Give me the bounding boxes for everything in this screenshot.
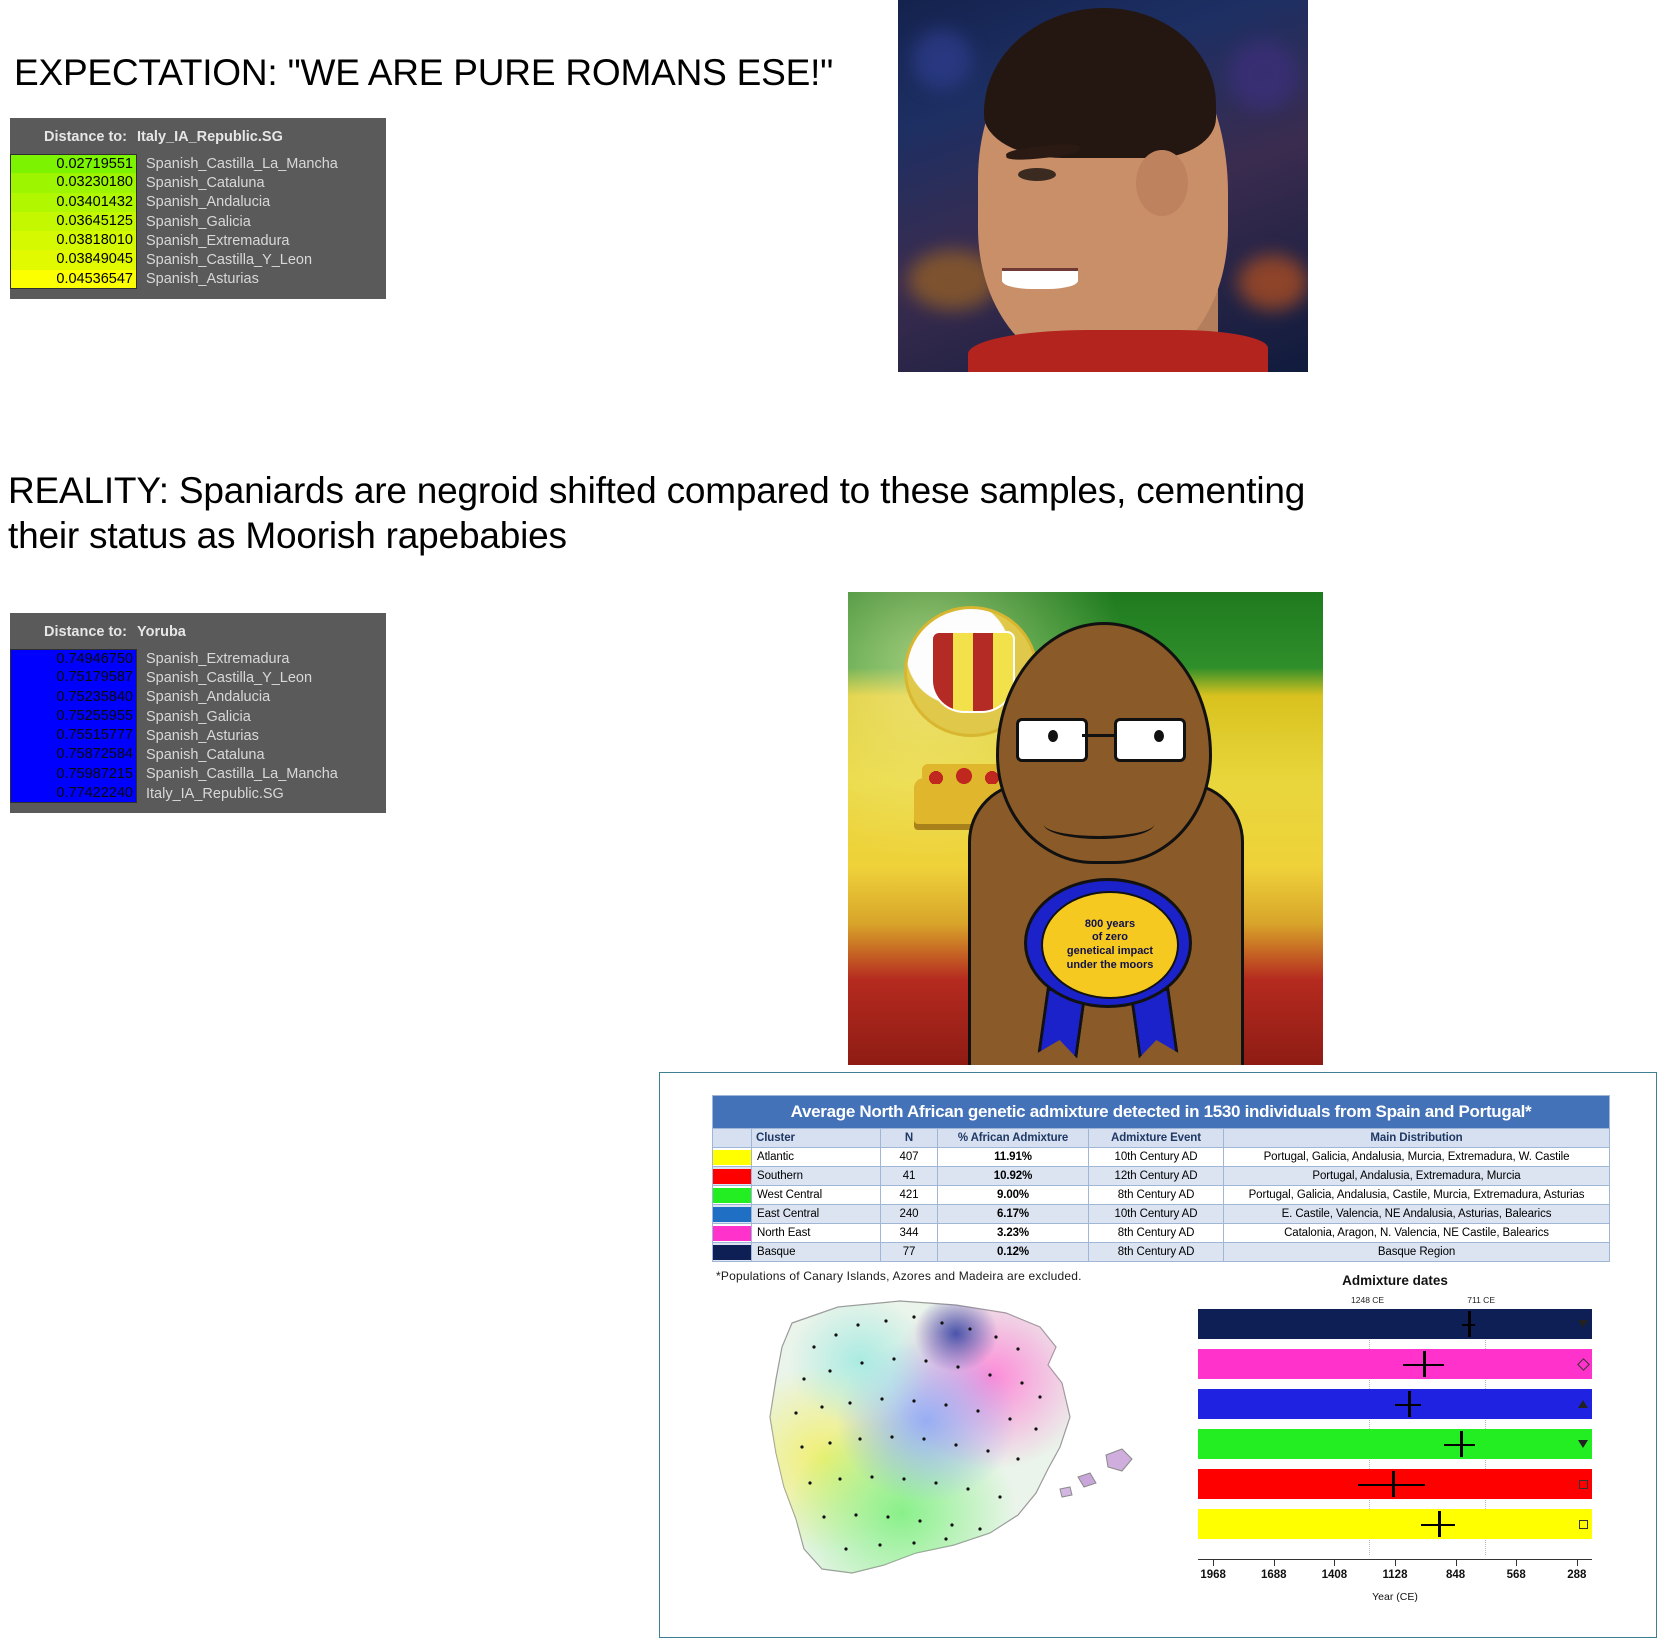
chart-bar-atlantic [1198,1509,1592,1539]
chart-marker-triangle-down [1578,1320,1588,1328]
chart-ci-bar [1358,1484,1425,1486]
distance-row: 0.03401432Spanish_Andalucia [10,193,386,212]
glasses-lens-right [1114,718,1186,762]
distance-row: 0.03645125Spanish_Galicia [10,212,386,231]
admixture-table-body: Atlantic40711.91%10th Century ADPortugal… [713,1148,1610,1262]
distance-to-label: Distance to: [10,129,137,145]
table-row: East Central2406.17%10th Century ADE. Ca… [713,1205,1610,1224]
admixture-dates-chart: Admixture dates 1248 CE 711 CE 196816881… [1170,1273,1620,1619]
distance-population-label: Spanish_Galicia [137,214,251,230]
admixture-col-header: N [881,1129,938,1148]
distance-value: 0.77422240 [10,784,137,803]
cell-event: 12th Century AD [1089,1167,1224,1186]
chart-point-estimate [1392,1471,1395,1497]
distance-panel-yoruba: Distance to: Yoruba 0.74946750Spanish_Ex… [10,613,386,813]
cell-n: 407 [881,1148,938,1167]
distance-population-label: Spanish_Cataluna [137,175,265,191]
chart-tick [1395,1559,1396,1566]
admixture-dates-title: Admixture dates [1170,1273,1620,1288]
chart-bar-west-central [1198,1429,1592,1459]
medal-text: 800 yearsof zerogenetical impactunder th… [1067,918,1154,973]
admixture-table-title: Average North African genetic admixture … [713,1096,1610,1129]
chart-tick [1334,1559,1335,1566]
distance-population-label: Spanish_Andalucia [137,689,270,705]
wojak-mouth [1044,810,1154,839]
distance-value: 0.75872584 [10,745,137,764]
distance-value: 0.75987215 [10,765,137,784]
expectation-headline: EXPECTATION: "WE ARE PURE ROMANS ESE!" [14,50,914,95]
pupil-left [1048,730,1058,742]
distance-row: 0.02719551Spanish_Castilla_La_Mancha [10,154,386,173]
bokeh-light [1238,255,1308,310]
cell-cluster: West Central [752,1186,881,1205]
admixture-table-footnote: *Populations of Canary Islands, Azores a… [716,1269,1082,1283]
table-row: Atlantic40711.91%10th Century ADPortugal… [713,1148,1610,1167]
cell-pct: 9.00% [938,1186,1089,1205]
balearic-islands [1060,1449,1132,1497]
study-figure-panel: Average North African genetic admixture … [659,1072,1657,1638]
chart-marker-triangle-up [1578,1400,1588,1408]
admixture-table-title-row: Average North African genetic admixture … [713,1096,1610,1129]
chart-tick [1274,1559,1275,1566]
cluster-color-swatch [713,1243,752,1262]
chart-point-estimate [1460,1431,1463,1457]
ear [1136,150,1188,216]
iberia-landmass [770,1301,1070,1573]
distance-row: 0.75179587Spanish_Castilla_Y_Leon [10,668,386,687]
color-swatch-icon [713,1207,751,1222]
reality-headline: REALITY: Spaniards are negroid shifted c… [8,468,1338,558]
bokeh-light [1228,40,1298,110]
table-row: Southern4110.92%12th Century ADPortugal,… [713,1167,1610,1186]
chart-tick [1213,1559,1214,1566]
chart-tick-label: 1408 [1322,1569,1348,1581]
wojak-spain-flag-image: 800 yearsof zerogenetical impactunder th… [848,592,1323,1065]
chart-point-estimate [1408,1391,1411,1417]
color-swatch-icon [713,1245,751,1260]
chart-tick [1456,1559,1457,1566]
rosette-center: 800 yearsof zerogenetical impactunder th… [1041,891,1179,999]
distance-value: 0.75255955 [10,707,137,726]
chart-marker-square [1579,1520,1588,1529]
annotation-1248ce: 1248 CE [1351,1295,1384,1305]
table-row: Basque770.12%8th Century ADBasque Region [713,1243,1610,1262]
distance-value: 0.03849045 [10,250,137,269]
distance-population-label: Spanish_Castilla_La_Mancha [137,766,338,782]
chart-tick-label: 568 [1507,1569,1526,1581]
cell-pct: 0.12% [938,1243,1089,1262]
cluster-color-swatch [713,1148,752,1167]
admixture-col-header: % African Admixture [938,1129,1089,1148]
annotation-711ce: 711 CE [1467,1295,1495,1305]
admixture-col-header [713,1129,752,1148]
chart-bar-basque [1198,1309,1592,1339]
distance-panel-italy: Distance to: Italy_IA_Republic.SG 0.0271… [10,118,386,299]
cell-pct: 10.92% [938,1167,1089,1186]
distance-value: 0.74946750 [10,649,137,668]
cell-event: 8th Century AD [1089,1243,1224,1262]
medal-rosette: 800 yearsof zerogenetical impactunder th… [1024,878,1192,1008]
color-swatch-icon [713,1226,751,1241]
cell-n: 344 [881,1224,938,1243]
distance-value: 0.02719551 [10,154,137,173]
cell-distribution: Portugal, Andalusia, Extremadura, Murcia [1224,1167,1610,1186]
distance-row: 0.74946750Spanish_Extremadura [10,649,386,668]
chart-point-estimate [1438,1511,1441,1537]
distance-value: 0.03818010 [10,231,137,250]
admixture-table-header-row: ClusterN% African AdmixtureAdmixture Eve… [713,1129,1610,1148]
distance-value: 0.75179587 [10,668,137,687]
cell-distribution: Catalonia, Aragon, N. Valencia, NE Casti… [1224,1224,1610,1243]
iberia-cluster-map [718,1287,1158,1617]
cell-distribution: E. Castile, Valencia, NE Andalusia, Astu… [1224,1205,1610,1224]
cell-n: 240 [881,1205,938,1224]
chart-tick [1577,1559,1578,1566]
admixture-col-header: Main Distribution [1224,1129,1610,1148]
distance-row: 0.04536547Spanish_Asturias [10,270,386,289]
cell-distribution: Portugal, Galicia, Andalusia, Murcia, Ex… [1224,1148,1610,1167]
cell-cluster: Basque [752,1243,881,1262]
cell-cluster: North East [752,1224,881,1243]
distance-population-label: Spanish_Galicia [137,709,251,725]
color-swatch-icon [713,1150,751,1165]
distance-row: 0.77422240Italy_IA_Republic.SG [10,784,386,803]
chart-tick-label: 1968 [1200,1569,1226,1581]
color-swatch-icon [713,1169,751,1184]
distance-panel-header: Distance to: Italy_IA_Republic.SG [10,118,386,154]
chart-point-estimate [1468,1311,1471,1337]
cell-event: 10th Century AD [1089,1205,1224,1224]
hair [984,8,1216,158]
distance-value: 0.75515777 [10,726,137,745]
admixture-col-header: Admixture Event [1089,1129,1224,1148]
chart-tick [1516,1559,1517,1566]
distance-population-label: Spanish_Extremadura [137,233,289,249]
distance-row: 0.75515777Spanish_Asturias [10,726,386,745]
cluster-color-swatch [713,1205,752,1224]
distance-panel-header: Distance to: Yoruba [10,613,386,649]
cell-distribution: Portugal, Galicia, Andalusia, Castile, M… [1224,1186,1610,1205]
distance-to-label: Distance to: [10,624,137,640]
bokeh-light [912,30,972,90]
chart-tick-label: 1128 [1383,1569,1408,1581]
admixture-col-header: Cluster [752,1129,881,1148]
distance-row: 0.03818010Spanish_Extremadura [10,231,386,250]
distance-row: 0.75872584Spanish_Cataluna [10,745,386,764]
cell-cluster: East Central [752,1205,881,1224]
distance-population-label: Spanish_Extremadura [137,651,289,667]
pupil-right [1154,730,1164,742]
distance-target-label: Yoruba [137,624,186,640]
distance-population-label: Spanish_Andalucia [137,194,270,210]
cell-event: 8th Century AD [1089,1224,1224,1243]
mouth [1002,268,1078,289]
chart-bar-north-east [1198,1349,1592,1379]
cell-pct: 3.23% [938,1224,1089,1243]
cell-n: 41 [881,1167,938,1186]
cluster-color-swatch [713,1224,752,1243]
distance-value: 0.75235840 [10,688,137,707]
distance-row: 0.75255955Spanish_Galicia [10,707,386,726]
chart-tick-label: 848 [1446,1569,1465,1581]
chart-point-estimate [1423,1351,1426,1377]
chart-tick-label: 1688 [1261,1569,1287,1581]
distance-population-label: Spanish_Castilla_La_Mancha [137,156,338,172]
distance-row: 0.75987215Spanish_Castilla_La_Mancha [10,765,386,784]
distance-row: 0.03849045Spanish_Castilla_Y_Leon [10,250,386,269]
chart-tick-label: 288 [1567,1569,1586,1581]
cell-n: 77 [881,1243,938,1262]
cell-n: 421 [881,1186,938,1205]
chart-marker-plus [1579,1480,1588,1489]
distance-rows-italy: 0.02719551Spanish_Castilla_La_Mancha0.03… [10,154,386,299]
chart-x-axis-label: Year (CE) [1170,1591,1620,1603]
distance-population-label: Spanish_Asturias [137,271,259,287]
distance-population-label: Italy_IA_Republic.SG [137,786,284,802]
cell-pct: 11.91% [938,1148,1089,1167]
admixture-table: Average North African genetic admixture … [712,1095,1610,1262]
cluster-color-swatch [713,1167,752,1186]
shirt [968,330,1268,372]
distance-value: 0.03645125 [10,212,137,231]
cell-event: 8th Century AD [1089,1186,1224,1205]
distance-population-label: Spanish_Asturias [137,728,259,744]
carlos-sainz-photo [898,0,1308,372]
cell-cluster: Southern [752,1167,881,1186]
distance-rows-yoruba: 0.74946750Spanish_Extremadura0.75179587S… [10,649,386,813]
distance-population-label: Spanish_Castilla_Y_Leon [137,670,312,686]
eye [1018,168,1056,181]
cell-distribution: Basque Region [1224,1243,1610,1262]
distance-row: 0.75235840Spanish_Andalucia [10,688,386,707]
cell-pct: 6.17% [938,1205,1089,1224]
chart-bars [1198,1309,1592,1551]
cell-event: 10th Century AD [1089,1148,1224,1167]
distance-population-label: Spanish_Castilla_Y_Leon [137,252,312,268]
table-row: West Central4219.00%8th Century ADPortug… [713,1186,1610,1205]
distance-population-label: Spanish_Cataluna [137,747,265,763]
distance-target-label: Italy_IA_Republic.SG [137,129,283,145]
distance-row: 0.03230180Spanish_Cataluna [10,173,386,192]
cell-cluster: Atlantic [752,1148,881,1167]
color-swatch-icon [713,1188,751,1203]
table-row: North East3443.23%8th Century ADCataloni… [713,1224,1610,1243]
cluster-color-swatch [713,1186,752,1205]
distance-value: 0.03230180 [10,173,137,192]
distance-value: 0.04536547 [10,270,137,289]
chart-marker-triangle-down [1578,1440,1588,1448]
distance-value: 0.03401432 [10,193,137,212]
